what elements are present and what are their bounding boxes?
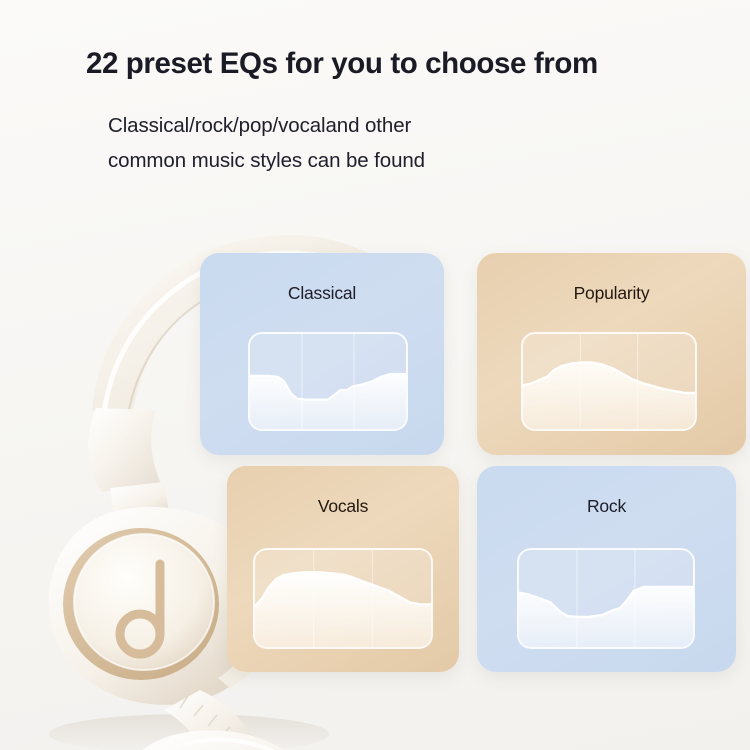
eq-preset-label: Rock xyxy=(477,496,736,517)
promo-canvas: 22 preset EQs for you to choose from Cla… xyxy=(0,0,750,750)
subtitle-line-1: Classical/rock/pop/vocaland other xyxy=(108,114,411,137)
popularity-eq-curve xyxy=(521,332,697,431)
eq-preset-card-popularity[interactable]: Popularity xyxy=(477,253,746,455)
page-title: 22 preset EQs for you to choose from xyxy=(86,46,686,81)
subtitle-line-2: common music styles can be found xyxy=(108,143,578,178)
classical-eq-curve xyxy=(248,332,408,431)
eq-preset-label: Classical xyxy=(200,283,444,304)
eq-preset-card-vocals[interactable]: Vocals xyxy=(227,466,459,672)
rock-eq-curve xyxy=(517,548,695,649)
eq-preset-label: Popularity xyxy=(477,283,746,304)
page-subtitle: Classical/rock/pop/vocaland other common… xyxy=(108,108,578,179)
vocals-eq-curve xyxy=(253,548,433,649)
eq-preset-label: Vocals xyxy=(227,496,459,517)
eq-preset-card-classical[interactable]: Classical xyxy=(200,253,444,455)
eq-preset-card-rock[interactable]: Rock xyxy=(477,466,736,672)
